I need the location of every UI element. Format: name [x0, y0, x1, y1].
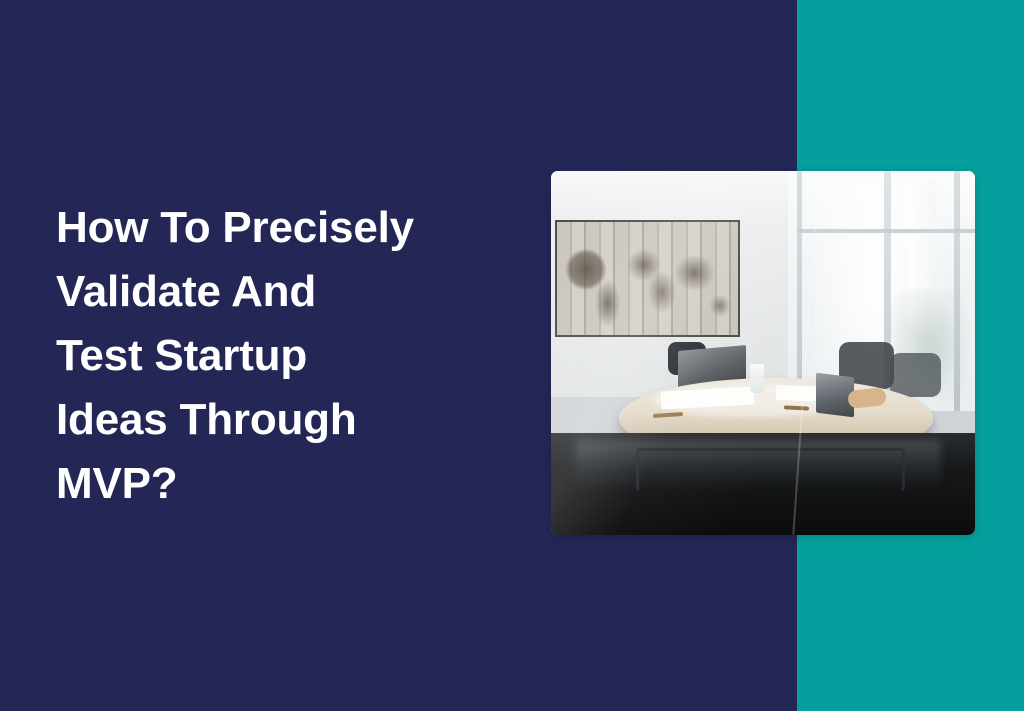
page-title: How To Precisely Validate And Test Start… — [56, 196, 486, 516]
window-mullion — [797, 171, 802, 411]
meeting-photo — [551, 171, 975, 535]
window-mullion — [954, 171, 960, 411]
water-glass — [750, 364, 764, 393]
office-chair — [890, 353, 941, 397]
table-base — [636, 448, 905, 491]
world-map-wall-art — [555, 220, 739, 336]
blog-hero-banner: How To Precisely Validate And Test Start… — [0, 0, 1024, 711]
hero-image-card — [551, 171, 975, 535]
window-transom — [797, 229, 975, 233]
